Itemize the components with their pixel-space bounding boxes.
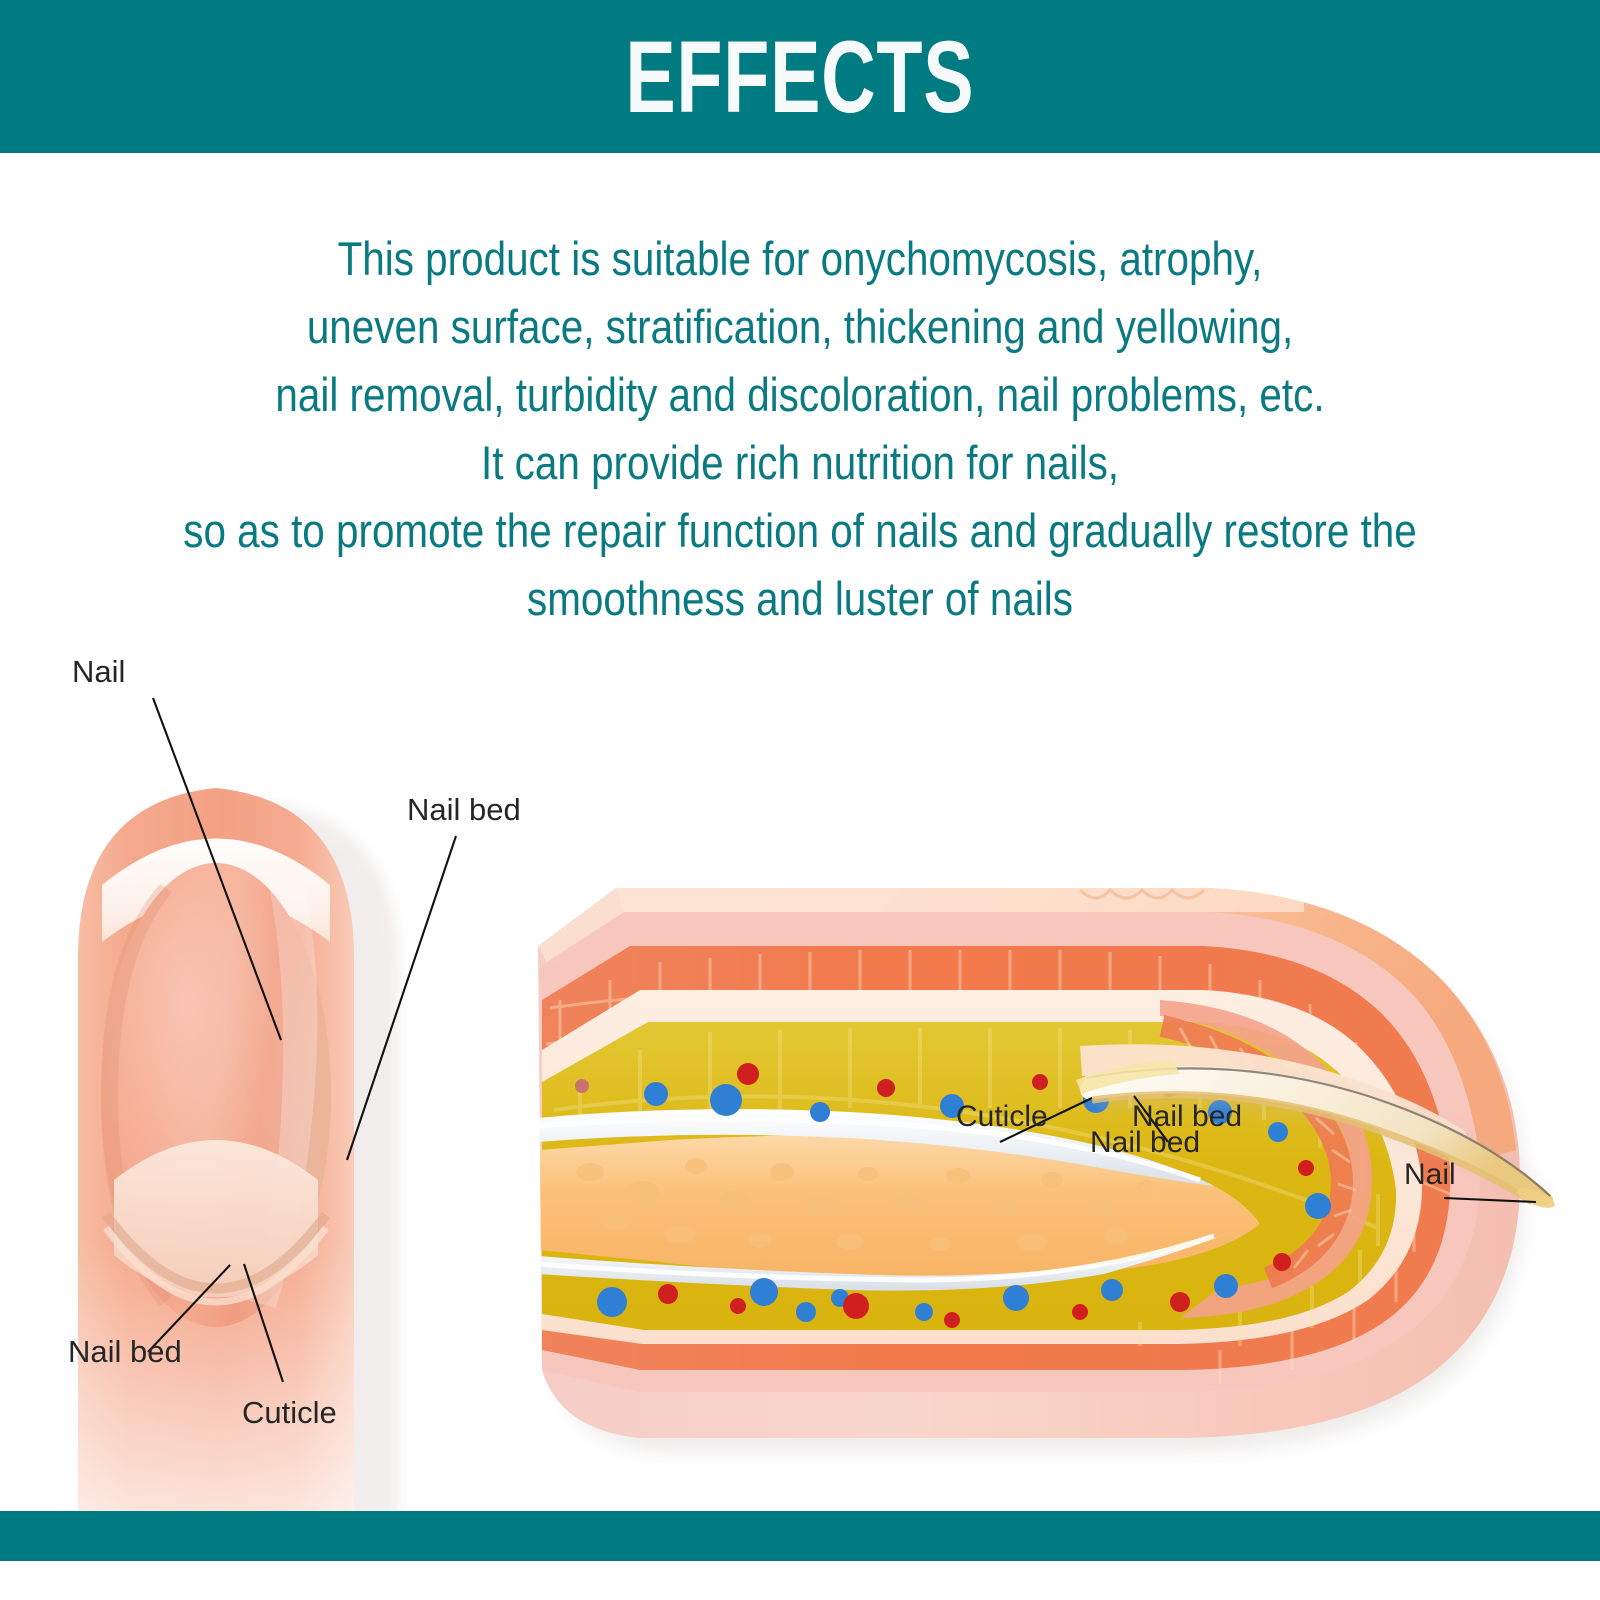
label-nail-bed-inner: Nail bed: [1090, 1126, 1200, 1159]
fingertip-cross-section-figure: Cuticle Nail bed Nail bed Nail: [520, 850, 1580, 1470]
intro-line-2: uneven surface, stratification, thickeni…: [112, 293, 1488, 361]
intro-line-6: smoothness and luster of nails: [112, 565, 1488, 633]
header-band: EFFECTS: [0, 0, 1600, 153]
label-nail-section: Nail: [1404, 1158, 1456, 1191]
label-nail-bed: Nail bed: [407, 792, 521, 827]
figure-area: Nail Nail bed Nail bed Cuticle: [0, 640, 1600, 1520]
intro-line-4: It can provide rich nutrition for nails,: [112, 429, 1488, 497]
intro-line-5: so as to promote the repair function of …: [112, 497, 1488, 565]
fingertip-top-view-figure: Nail Nail bed Nail bed Cuticle: [40, 640, 560, 1520]
label-nail: Nail: [72, 654, 125, 689]
footer-band: [0, 1511, 1600, 1561]
intro-line-1: This product is suitable for onychomycos…: [112, 225, 1488, 293]
label-cuticle-section: Cuticle: [956, 1100, 1048, 1133]
intro-line-3: nail removal, turbidity and discoloratio…: [112, 361, 1488, 429]
label-cuticle: Cuticle: [242, 1395, 337, 1430]
intro-paragraph: This product is suitable for onychomycos…: [0, 225, 1600, 633]
page-title: EFFECTS: [625, 26, 974, 128]
label-nail-bed-lower: Nail bed: [68, 1334, 182, 1369]
infographic-page: EFFECTS This product is suitable for ony…: [0, 0, 1600, 1600]
